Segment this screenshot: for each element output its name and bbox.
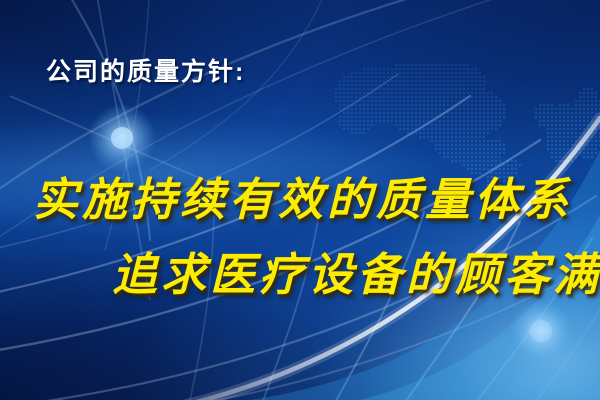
slogan-line-1: 实施持续有效的质量体系 — [33, 163, 572, 228]
page-title: 公司的质量方针: — [46, 52, 245, 88]
slogan-line-2: 追求医疗设备的顾客满意 — [112, 238, 600, 303]
glow-node-icon — [88, 104, 156, 172]
quality-policy-banner: 公司的质量方针: 实施持续有效的质量体系 追求医疗设备的顾客满意 — [0, 0, 600, 400]
glow-node-icon — [509, 299, 573, 363]
